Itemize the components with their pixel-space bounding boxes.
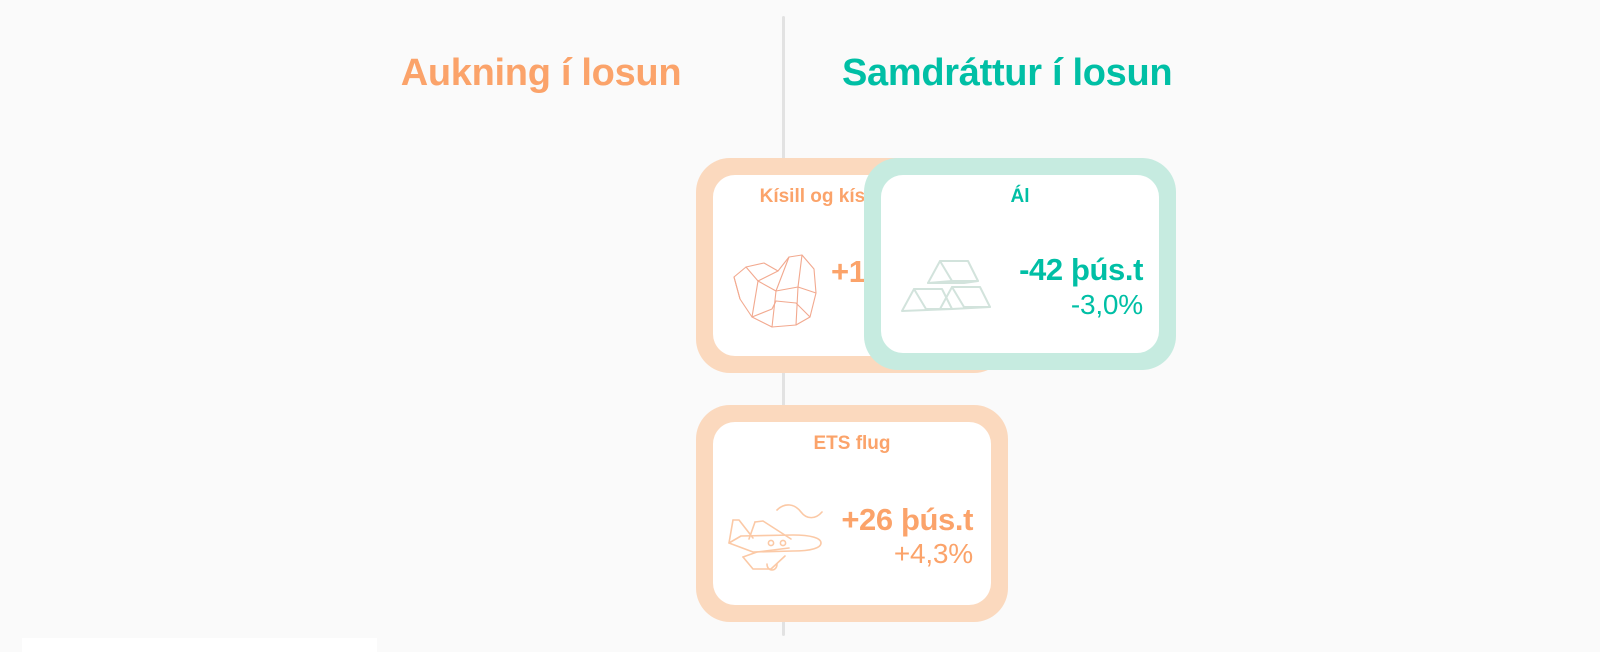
rock-icon [721, 243, 831, 335]
card-aluminium-title: Ál [881, 187, 1159, 206]
card-ets-aviation-value-percent: +4,3% [835, 537, 973, 570]
card-aluminium-value-absolute: -42 þús.t [999, 253, 1143, 288]
card-aluminium[interactable]: Ál [864, 158, 1176, 370]
column-heading-decrease: Samdráttur í losun [842, 54, 1172, 92]
ingot-icon [889, 241, 999, 333]
card-ets-aviation-value-absolute: +26 þús.t [835, 503, 973, 538]
card-ets-aviation-title: ETS flug [713, 434, 991, 453]
card-aluminium-value-percent: -3,0% [999, 288, 1143, 321]
column-heading-increase: Aukning í losun [300, 54, 782, 92]
infographic-canvas: Aukning í losun Kísill og kísilmálmur [0, 0, 1600, 652]
airplane-icon [715, 491, 835, 583]
card-ets-aviation-values: +26 þús.t +4,3% [835, 503, 991, 571]
card-ets-aviation[interactable]: ETS flug [696, 405, 1008, 622]
card-ets-aviation-surface: ETS flug [713, 422, 991, 605]
card-aluminium-surface: Ál [881, 175, 1159, 353]
card-ets-aviation-body: +26 þús.t +4,3% [713, 468, 991, 605]
card-aluminium-body: -42 þús.t -3,0% [881, 221, 1159, 353]
card-aluminium-values: -42 þús.t -3,0% [999, 253, 1159, 321]
bottom-overflow-strip [22, 638, 377, 652]
